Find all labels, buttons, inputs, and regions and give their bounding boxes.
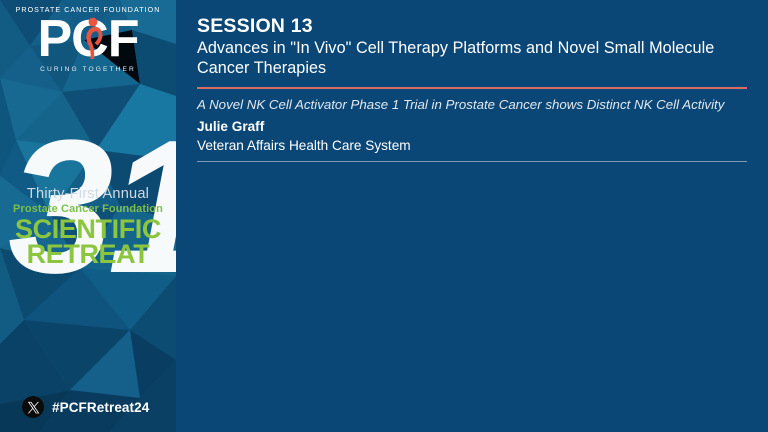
- talk-title: A Novel NK Cell Activator Phase 1 Trial …: [197, 97, 748, 114]
- pcf-logo: PROSTATE CANCER FOUNDATION PCF CURING TO…: [0, 6, 176, 73]
- pcf-wordmark-wrap: PCF: [0, 15, 176, 63]
- x-twitter-icon: [22, 396, 44, 418]
- session-content: SESSION 13 Advances in "In Vivo" Cell Th…: [197, 14, 748, 162]
- annual-edition-label: Thirty-First Annual: [0, 186, 176, 202]
- retreat-title-block: Thirty-First Annual Prostate Cancer Foun…: [0, 186, 176, 267]
- presentation-slide: 31 PROSTATE CANCER FOUNDATION PCF CURING…: [0, 0, 768, 432]
- speaker-affiliation: Veteran Affairs Health Care System: [197, 137, 748, 154]
- social-hashtag-bar: #PCFRetreat24: [22, 396, 149, 418]
- event-name-line-2: RETREAT: [0, 242, 176, 267]
- divider-light: [197, 161, 747, 162]
- session-title: Advances in "In Vivo" Cell Therapy Platf…: [197, 39, 748, 78]
- speaker-name: Julie Graff: [197, 118, 748, 135]
- pcf-ribbon-figure-icon: [82, 16, 104, 62]
- session-label: SESSION 13: [197, 14, 748, 38]
- brand-panel: 31 PROSTATE CANCER FOUNDATION PCF CURING…: [0, 0, 176, 432]
- hashtag-label: #PCFRetreat24: [52, 400, 149, 415]
- divider-red: [197, 87, 747, 89]
